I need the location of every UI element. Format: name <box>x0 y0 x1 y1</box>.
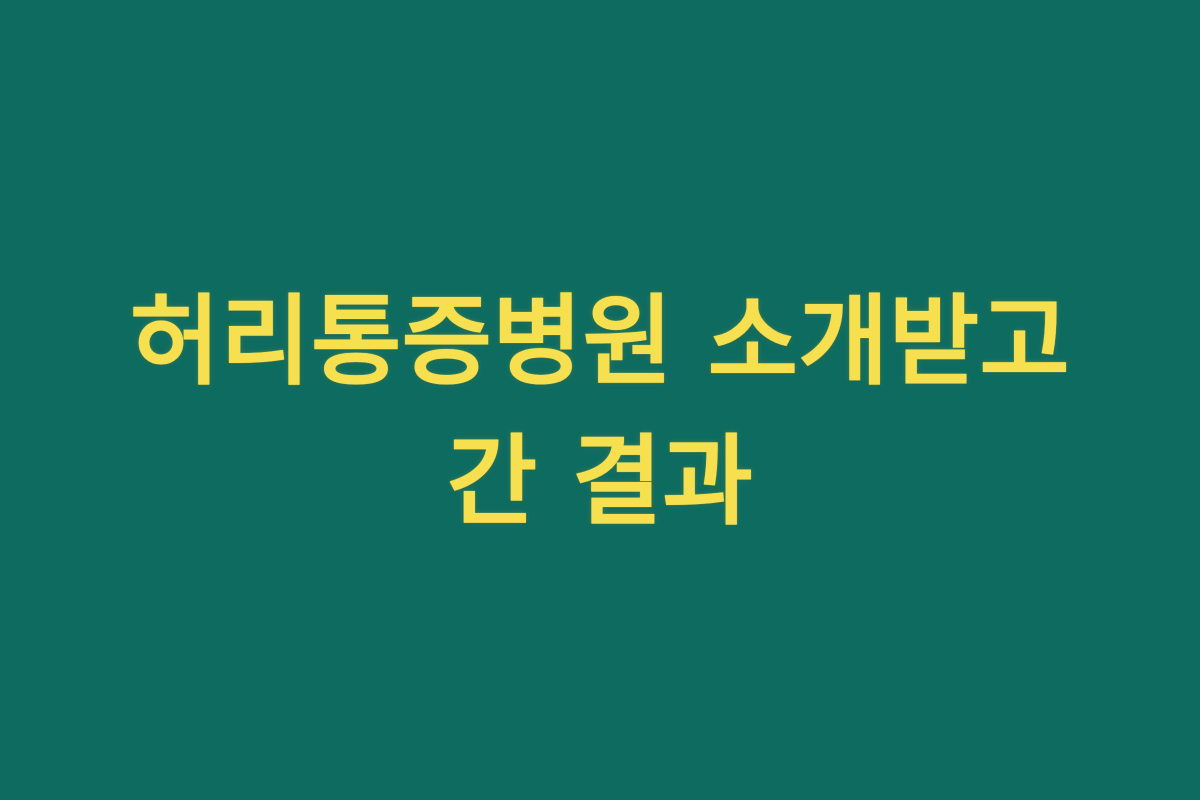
headline-line-1: 허리통증병원 소개받고 <box>0 272 1200 412</box>
headline-line-2: 간 결과 <box>0 412 1200 552</box>
title-card: 허리통증병원 소개받고 간 결과 <box>0 0 1200 800</box>
headline-block: 허리통증병원 소개받고 간 결과 <box>0 0 1200 552</box>
